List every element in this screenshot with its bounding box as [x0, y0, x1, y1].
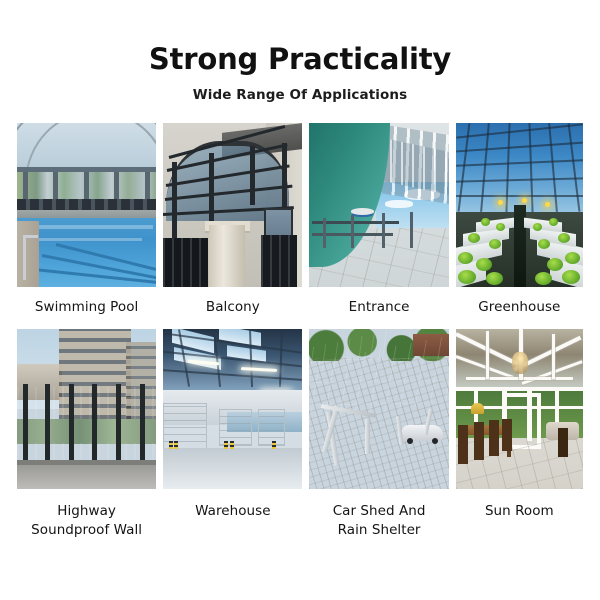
balcony-image [163, 123, 302, 287]
page-title: Strong Practicality [0, 44, 600, 74]
application-card-greenhouse[interactable]: Greenhouse [456, 123, 583, 317]
application-label: Warehouse [195, 502, 270, 521]
entrance-image [309, 123, 448, 287]
swimming-pool-image [17, 123, 156, 287]
sun-room-image [456, 329, 583, 489]
page-header: Strong Practicality Wide Range Of Applic… [0, 0, 600, 103]
application-card-warehouse[interactable]: Warehouse [163, 329, 302, 540]
application-card-balcony[interactable]: Balcony [163, 123, 302, 317]
greenhouse-image [456, 123, 583, 287]
applications-grid: Swimming Pool [17, 123, 583, 540]
car-shed-and-rain-shelter-image [309, 329, 448, 489]
applications-page: Strong Practicality Wide Range Of Applic… [0, 0, 600, 600]
highway-soundproof-wall-image [17, 329, 156, 489]
application-label: Entrance [349, 298, 410, 317]
gallery-row: HighwaySoundproof Wall [17, 329, 583, 540]
application-label: Greenhouse [478, 298, 560, 317]
application-label: Swimming Pool [35, 298, 138, 317]
application-card-swimming-pool[interactable]: Swimming Pool [17, 123, 156, 317]
warehouse-image [163, 329, 302, 489]
application-label: HighwaySoundproof Wall [31, 502, 142, 540]
application-label: Sun Room [485, 502, 554, 521]
gallery-row: Swimming Pool [17, 123, 583, 317]
application-label: Balcony [206, 298, 260, 317]
application-card-sun-room[interactable]: Sun Room [456, 329, 583, 540]
application-card-car-shed-and-rain-shelter[interactable]: Car Shed AndRain Shelter [309, 329, 448, 540]
page-subtitle: Wide Range Of Applications [0, 87, 600, 103]
application-card-entrance[interactable]: Entrance [309, 123, 448, 317]
application-card-highway-soundproof-wall[interactable]: HighwaySoundproof Wall [17, 329, 156, 540]
application-label: Car Shed AndRain Shelter [333, 502, 426, 540]
